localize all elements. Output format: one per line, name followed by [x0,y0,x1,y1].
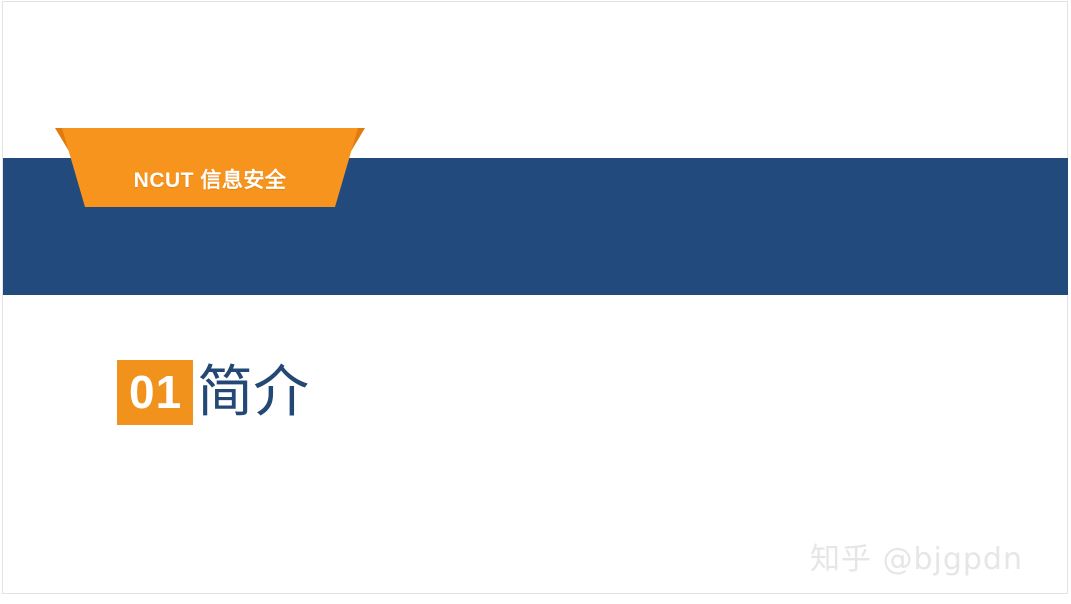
section-number-badge: 01 [117,360,193,425]
slide-canvas: NCUT 信息安全 01 简介 知乎 @bjgpdn [0,0,1071,604]
slide-border [2,1,1068,594]
section-heading: 01 简介 [117,360,309,425]
section-title: 简介 [197,365,309,421]
ribbon-label: NCUT 信息安全 [55,120,365,215]
ribbon-banner: NCUT 信息安全 [55,120,365,215]
watermark: 知乎 @bjgpdn [810,534,1023,578]
